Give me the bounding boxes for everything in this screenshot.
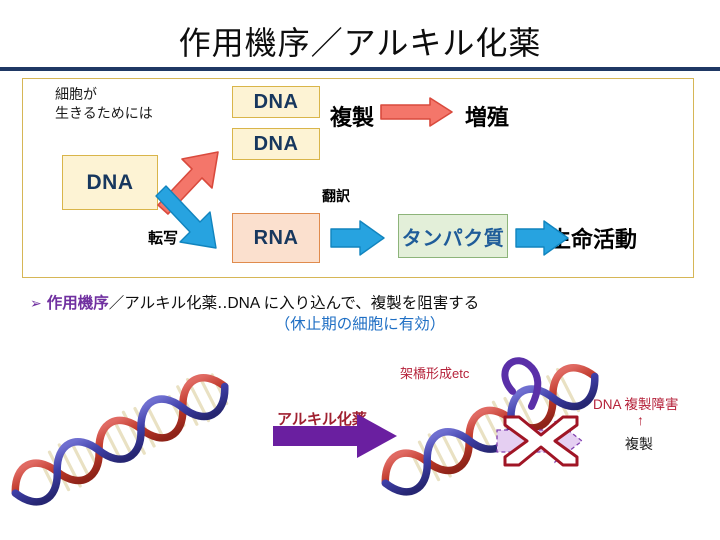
title-divider <box>0 67 720 71</box>
dna-source-box: DNA <box>62 155 158 210</box>
dna-copy-box-2: DNA <box>232 128 320 160</box>
proliferation-label: 増殖 <box>465 100 509 132</box>
transcription-label: 転写 <box>148 227 178 248</box>
translation-label: 翻訳 <box>322 186 350 206</box>
mechanism-heading: 作用機序 <box>47 295 109 312</box>
page-title: 作用機序／アルキル化薬 <box>0 18 720 64</box>
mechanism-description: ／アルキル化薬‥DNA に入り込んで、複製を阻害する <box>109 295 479 312</box>
dna-helix-normal <box>5 366 235 514</box>
replication-label: 複製 <box>330 100 374 132</box>
bullet-marker-icon: ➢ <box>30 295 42 311</box>
alkylating-agent-arrow-icon <box>273 414 397 458</box>
cell-note-text: 細胞が 生きるためには <box>55 85 153 123</box>
rna-box: RNA <box>232 213 320 263</box>
mechanism-bullet: ➢作用機序／アルキル化薬‥DNA に入り込んで、複製を阻害する （休止期の細胞に… <box>30 292 690 315</box>
dna-copy-box-1: DNA <box>232 86 320 118</box>
dna-illustration <box>0 330 720 540</box>
protein-box: タンパク質 <box>398 214 508 258</box>
life-activity-label: 生命活動 <box>549 222 637 254</box>
